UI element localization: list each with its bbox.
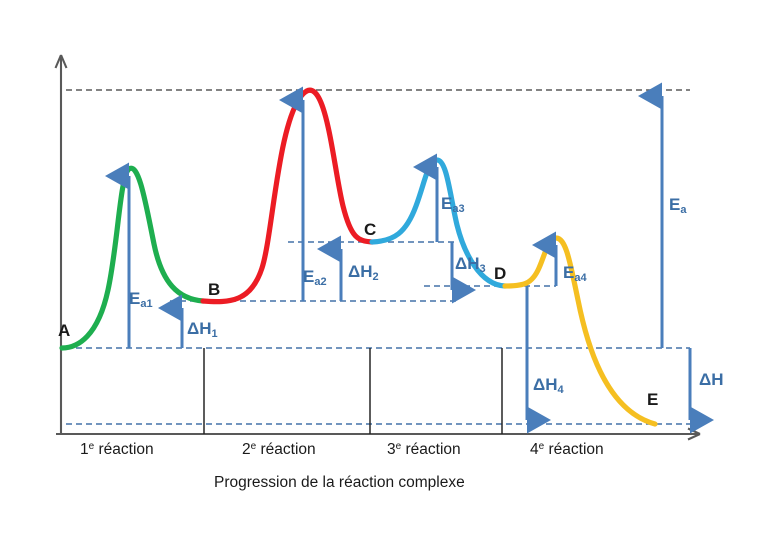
point-label-D: D [494,265,506,282]
label-dH2: ΔH2 [348,263,379,280]
label-Ea-global-sub: a [680,204,686,216]
label-Ea2-base: E [303,267,314,286]
label-Ea1-base: E [129,289,140,308]
label-dH3: ΔH3 [455,255,486,272]
axis-segment-3-exponent: e [396,441,402,452]
label-Ea2-sub: a2 [314,276,326,288]
point-label-B: B [208,281,220,298]
label-Ea4-base: E [563,263,574,282]
label-dH3-sub: 3 [480,263,486,275]
axis-segment-4-exponent: e [539,441,545,452]
diagram-svg [0,0,782,551]
point-label-E: E [647,391,658,408]
label-dH2-sub: 2 [373,271,379,283]
label-dH2-base: ΔH [348,262,373,281]
axis-segment-label-3: 3e réaction [387,442,461,458]
axis-segment-label-1: 1e réaction [80,442,154,458]
energy-diagram-figure: A B C D E Ea1 Ea2 Ea3 Ea4 Ea ΔH1 ΔH2 ΔH3… [0,0,782,551]
label-Ea4: Ea4 [563,264,587,281]
label-dH4: ΔH4 [533,376,564,393]
label-dH-global: ΔH [699,371,724,388]
axis-segment-4-number: 4 [530,441,539,458]
curve-reaction-2-red [203,90,372,301]
label-Ea1-sub: a1 [140,298,152,310]
axis-segment-2-exponent: e [251,441,257,452]
axis-segment-1-word: réaction [99,441,154,458]
label-dH1-sub: 1 [212,328,218,340]
axis-segment-3-number: 3 [387,441,396,458]
label-Ea3-base: E [441,194,452,213]
label-Ea-global: Ea [669,196,686,213]
axis-segment-label-4: 4e réaction [530,442,604,458]
axis-segment-2-word: réaction [261,441,316,458]
label-Ea-global-base: E [669,195,680,214]
label-dH4-base: ΔH [533,375,558,394]
x-axis-caption: Progression de la réaction complexe [214,475,465,491]
point-label-C: C [364,221,376,238]
label-dH-global-base: ΔH [699,370,724,389]
energy-curves-group [62,90,655,424]
label-dH1-base: ΔH [187,319,212,338]
axis-segment-1-number: 1 [80,441,89,458]
label-dH1: ΔH1 [187,320,218,337]
axis-segment-1-exponent: e [89,441,95,452]
axis-segment-3-word: réaction [406,441,461,458]
segment-separators-group [204,348,502,434]
axis-segment-2-number: 2 [242,441,251,458]
label-dH4-sub: 4 [558,384,564,396]
label-Ea2: Ea2 [303,268,327,285]
label-Ea3-sub: a3 [452,203,464,215]
label-Ea4-sub: a4 [574,272,586,284]
axis-segment-4-word: réaction [549,441,604,458]
label-dH3-base: ΔH [455,254,480,273]
axis-segment-label-2: 2e réaction [242,442,316,458]
point-label-A: A [58,322,70,339]
label-Ea3: Ea3 [441,195,465,212]
annotation-arrows-group [129,96,690,420]
label-Ea1: Ea1 [129,290,153,307]
